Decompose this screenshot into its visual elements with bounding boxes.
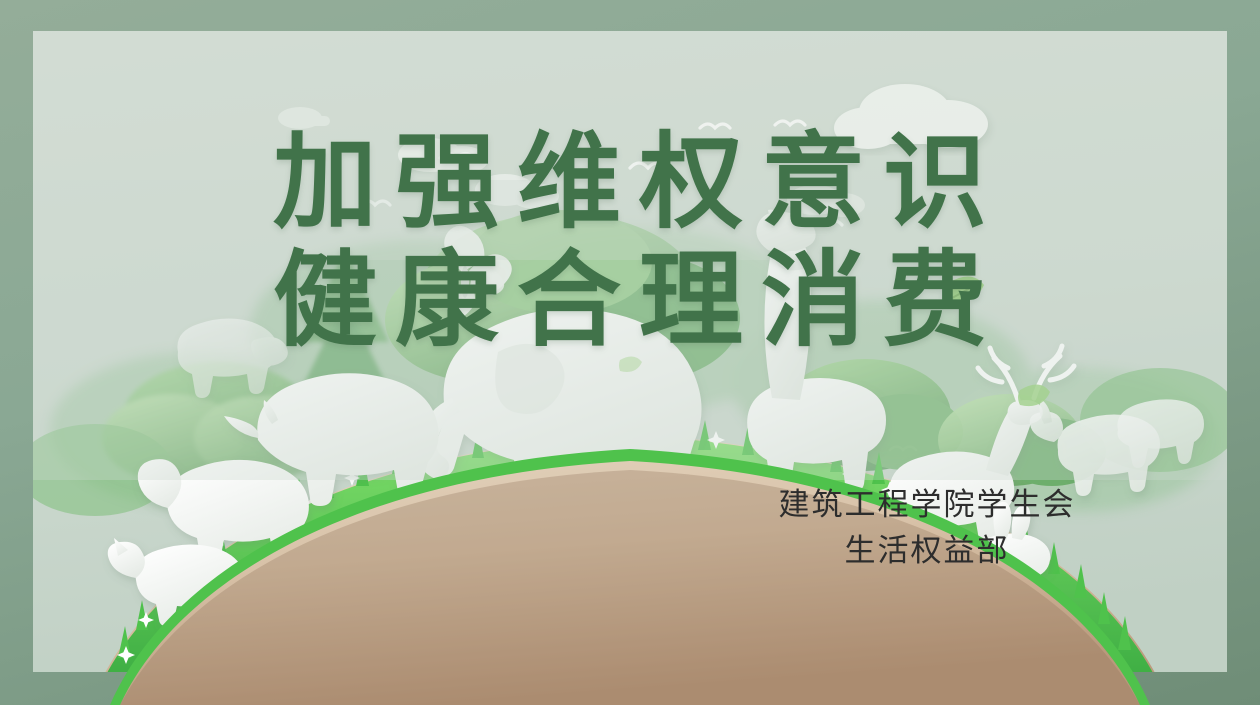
bush-right-2 [938, 394, 1106, 486]
bird-8 [890, 447, 916, 451]
title-line-1: 加强维权意识 [33, 123, 1227, 241]
flower [344, 470, 360, 486]
bush-left-1 [102, 362, 330, 482]
rhino [224, 373, 439, 506]
rhino-horn-2 [264, 400, 278, 424]
subtitle-line-2: 生活权益部 [717, 528, 1137, 574]
deer-neck [986, 402, 1032, 476]
land-central-america [400, 604, 450, 645]
flower [248, 514, 264, 530]
flower [548, 426, 564, 442]
leaf-2 [1018, 384, 1050, 406]
land-south-america [340, 633, 458, 672]
land-australia [939, 642, 1017, 673]
flower [138, 612, 154, 628]
title-line-2: 健康合理消费 [33, 241, 1227, 359]
elephant-trunk [417, 398, 460, 479]
flower [497, 431, 515, 449]
flower [206, 536, 224, 554]
flower [291, 491, 309, 509]
flower [161, 581, 179, 599]
poster-inner-frame: 加强维权意识 健康合理消费 建筑工程学院学生会 生活权益部 [33, 31, 1227, 672]
deer-head [1008, 400, 1043, 425]
poster-subtitle: 建筑工程学院学生会 生活权益部 [717, 482, 1137, 574]
land-island-2 [245, 557, 289, 584]
lion [138, 459, 309, 568]
fox-tail [244, 561, 292, 593]
land-island-3 [182, 598, 213, 620]
bush-far-left [33, 424, 173, 516]
rhino-horn [224, 416, 258, 438]
flower [389, 453, 407, 471]
bush-far-right [1080, 368, 1227, 472]
fox-head [108, 542, 145, 578]
goat-head [1030, 412, 1063, 442]
flower [707, 431, 725, 449]
fox [108, 538, 292, 626]
goat-2 [1117, 399, 1204, 468]
flower [444, 442, 460, 458]
poster-canvas: 加强维权意识 健康合理消费 建筑工程学院学生会 生活权益部 [0, 0, 1260, 705]
flower [842, 466, 858, 482]
land-north-america [290, 487, 493, 605]
lion-head [138, 459, 182, 508]
giraffe-body [747, 378, 886, 496]
flower [117, 646, 135, 664]
bush-right-center [760, 359, 963, 472]
goat-horn [1039, 400, 1052, 424]
subtitle-line-1: 建筑工程学院学生会 [717, 482, 1137, 528]
flower [656, 425, 672, 441]
bird-7 [1035, 435, 1061, 439]
fox-ear [114, 538, 128, 556]
poster-title: 加强维权意识 健康合理消费 [33, 123, 1227, 359]
flower [601, 422, 619, 440]
land-india [784, 584, 839, 631]
